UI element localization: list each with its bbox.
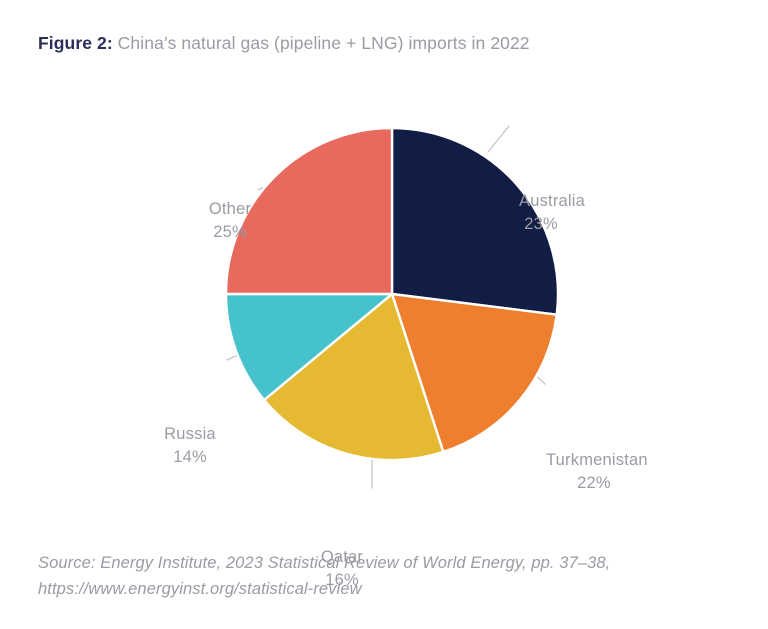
- pie-label-australia-value: 23%: [519, 213, 585, 236]
- page-title: Figure 2: China’s natural gas (pipeline …: [38, 30, 738, 56]
- pie-label-other-value: 25%: [180, 221, 280, 244]
- figure-page: Figure 2: China’s natural gas (pipeline …: [0, 0, 768, 629]
- pie-chart: Australia 23% Turkmenistan 22% Qatar 16%…: [0, 70, 768, 530]
- figure-title-text: China’s natural gas (pipeline + LNG) imp…: [118, 33, 530, 53]
- pie-chart-svg: [0, 70, 768, 530]
- pie-label-turkmenistan-name: Turkmenistan: [546, 449, 648, 472]
- source-note-line-1: Source: Energy Institute, 2023 Statistic…: [38, 550, 698, 576]
- pie-label-russia-name: Russia: [140, 423, 240, 446]
- pie-label-australia-name: Australia: [519, 190, 585, 213]
- pie-slices: [226, 128, 558, 460]
- source-note-line-2: https://www.energyinst.org/statistical-r…: [38, 576, 698, 602]
- pie-label-turkmenistan: Turkmenistan 22%: [546, 449, 648, 495]
- figure-number: Figure 2:: [38, 33, 113, 53]
- pie-label-turkmenistan-value: 22%: [546, 472, 648, 495]
- pie-label-other-name: Other: [180, 198, 280, 221]
- source-note: Source: Energy Institute, 2023 Statistic…: [38, 550, 698, 602]
- leader-line-australia: [488, 126, 509, 152]
- pie-label-russia-value: 14%: [140, 446, 240, 469]
- pie-label-australia: Australia 23%: [519, 190, 585, 236]
- pie-label-russia: Russia 14%: [140, 423, 240, 469]
- pie-label-other: Other 25%: [180, 198, 280, 244]
